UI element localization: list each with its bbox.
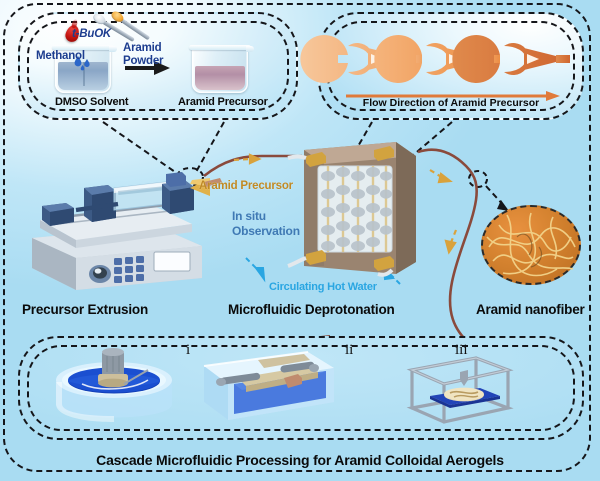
step-numeral-iii: iii xyxy=(455,342,468,359)
solvent-exchange-dish xyxy=(52,350,182,430)
trough-icon xyxy=(198,344,338,430)
petri-dish-icon xyxy=(52,350,182,430)
freeze-drying-cage xyxy=(400,352,518,432)
nanofiber-strands-icon xyxy=(483,207,579,283)
label-aramid-precursor-flow: Aramid Precursor xyxy=(199,180,293,192)
figure-canvas: t-BuOK Methanol Aramid Powder DMSO Solve… xyxy=(0,0,600,481)
label-in-situ-observation: In situ Observation xyxy=(232,209,300,239)
label-circulating-hot-water: Circulating Hot Water xyxy=(269,281,377,293)
figure-caption: Cascade Microfluidic Processing for Aram… xyxy=(0,452,600,468)
label-microfluidic-deprotonation: Microfluidic Deprotonation xyxy=(228,302,395,317)
microfluidic-chip xyxy=(300,138,420,278)
label-in-situ-line2: Observation xyxy=(232,224,300,238)
syringe-pump xyxy=(14,160,204,290)
step-numeral-i: i xyxy=(186,342,190,359)
microfluidic-chip-icon xyxy=(300,138,420,278)
syringe-pump-icon xyxy=(14,160,204,290)
step-numeral-ii: ii xyxy=(345,342,353,359)
label-precursor-extrusion: Precursor Extrusion xyxy=(22,302,148,317)
label-in-situ-line1: In situ xyxy=(232,209,266,223)
cage-icon xyxy=(400,352,518,432)
nanofiber-blob xyxy=(481,205,581,285)
collection-trough xyxy=(198,344,338,430)
label-aramid-nanofiber: Aramid nanofiber xyxy=(476,302,585,317)
